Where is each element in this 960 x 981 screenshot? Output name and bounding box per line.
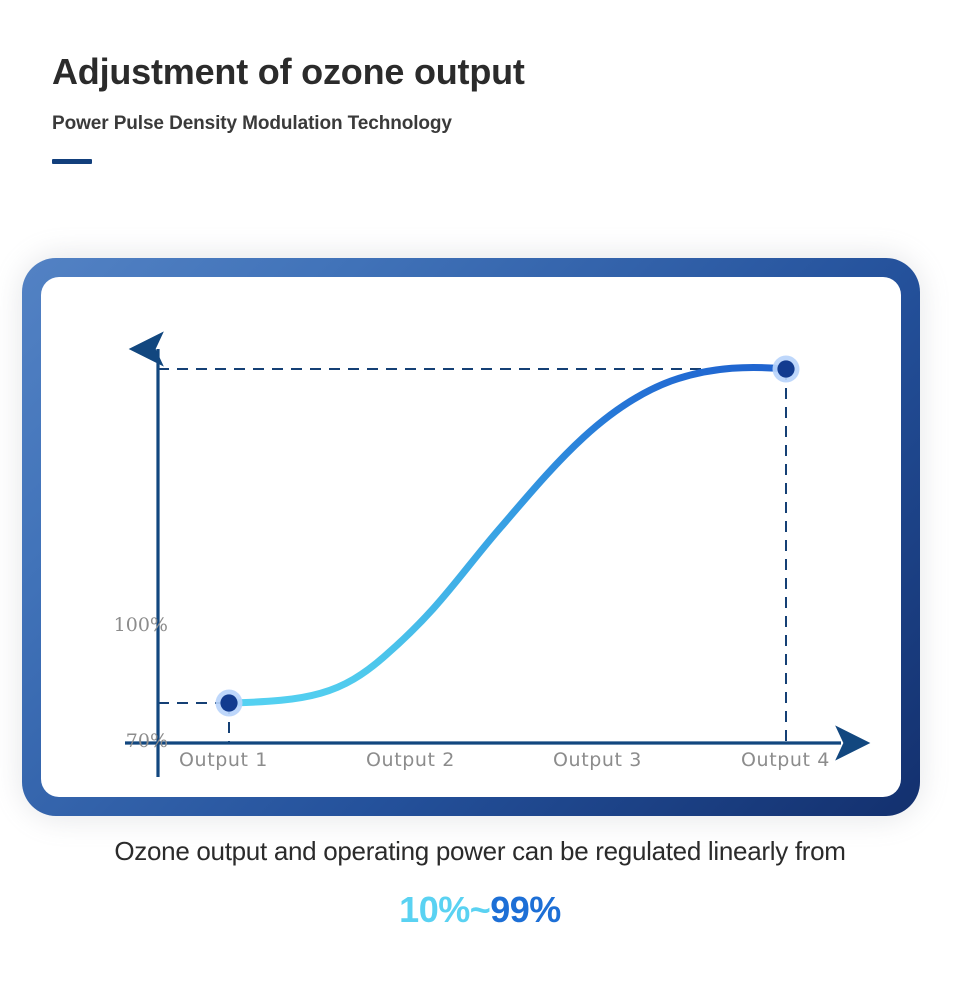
chart-canvas: 100% 70% 40% 10% Output 1 Output 2 Outpu… xyxy=(41,277,901,797)
x-tick-label-output-1: Output 1 xyxy=(179,749,268,771)
chart-frame-border: 100% 70% 40% 10% Output 1 Output 2 Outpu… xyxy=(22,258,920,816)
range-low-value: 10%~ xyxy=(399,889,490,930)
chart-frame: 100% 70% 40% 10% Output 1 Output 2 Outpu… xyxy=(22,258,920,816)
footer: Ozone output and operating power can be … xyxy=(0,836,960,931)
x-tick-label-output-3: Output 3 xyxy=(553,749,642,771)
ozone-output-line-chart xyxy=(41,277,901,797)
footer-caption: Ozone output and operating power can be … xyxy=(0,836,960,867)
x-tick-label-output-2: Output 2 xyxy=(366,749,455,771)
page-title: Adjustment of ozone output xyxy=(52,52,912,92)
x-tick-label-output-4: Output 4 xyxy=(741,749,830,771)
range-high-value: 99% xyxy=(490,889,561,930)
page-header: Adjustment of ozone output Power Pulse D… xyxy=(52,52,912,164)
y-tick-label-70: 70% xyxy=(126,730,168,752)
ozone-output-curve xyxy=(229,367,786,703)
page-subtitle: Power Pulse Density Modulation Technolog… xyxy=(52,92,912,135)
data-point-output-4 xyxy=(773,356,800,383)
y-tick-label-100: 100% xyxy=(114,614,168,636)
accent-underline-bar xyxy=(52,159,92,164)
footer-range: 10%~99% xyxy=(0,889,960,931)
data-point-output-1 xyxy=(216,690,243,717)
